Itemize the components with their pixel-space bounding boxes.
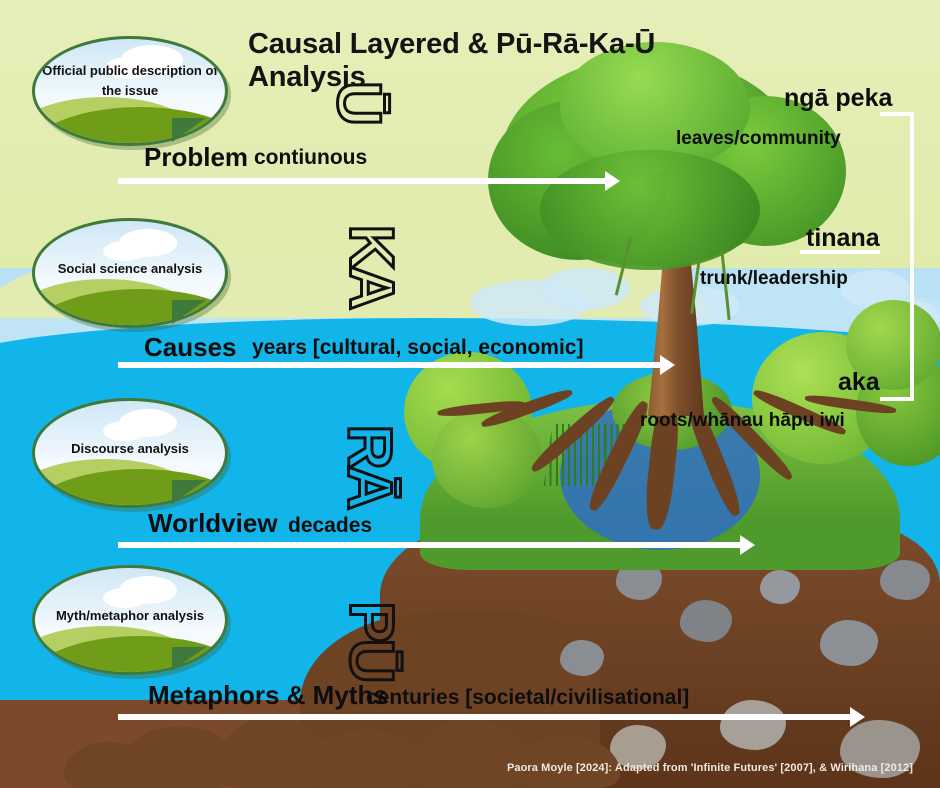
cloud-icon xyxy=(103,588,147,608)
layer-timescale-causes: years [cultural, social, economic] xyxy=(252,336,583,360)
timeline-arrowhead-causes xyxy=(660,355,675,375)
layer-timescale-problem: contiunous xyxy=(254,146,367,170)
cloud-icon xyxy=(103,241,147,261)
bracket-peka xyxy=(880,112,914,256)
bracket-aka xyxy=(880,252,914,401)
rock-shape xyxy=(880,560,930,600)
bubble-tail xyxy=(172,118,206,142)
rock-shape xyxy=(560,640,604,676)
timeline-arrow-causes xyxy=(118,362,663,368)
cloud-icon xyxy=(103,421,147,441)
causes-bubble-label: Social science analysis xyxy=(41,259,219,279)
tree-label-maori-tinana: tinana xyxy=(806,224,880,253)
rock-shape xyxy=(820,620,878,666)
tree-label-english-trunk: trunk/leadership xyxy=(700,268,848,290)
rock-shape xyxy=(760,570,800,604)
tree-label-english-roots: roots/whānau hāpu iwi xyxy=(640,410,845,432)
timeline-arrow-problem xyxy=(118,178,608,184)
timeline-arrowhead-problem xyxy=(605,171,620,191)
tree-label-english-leaves: leaves/community xyxy=(676,128,841,150)
vertical-letter-pu: PŪ xyxy=(336,601,407,679)
timeline-arrow-worldview xyxy=(118,542,743,548)
timeline-arrow-myths xyxy=(118,714,853,720)
rock-shape xyxy=(720,700,786,750)
vertical-letter-ra: RĀ xyxy=(333,425,404,507)
tree-canopy-bottom xyxy=(540,150,760,270)
vertical-letter-ka: KA xyxy=(335,225,406,307)
credit-line: Paora Moyle [2024]: Adapted from 'Infini… xyxy=(500,762,920,774)
layer-label-worldview: Worldview xyxy=(148,508,278,539)
problem-bubble-label: Official public description of the issue xyxy=(41,61,219,101)
bubble-tail xyxy=(172,480,206,504)
layer-label-myths: Metaphors & Myths xyxy=(148,680,388,711)
vertical-letter-u: Ū xyxy=(323,81,394,122)
bubble-tail xyxy=(172,300,206,324)
rock-shape xyxy=(680,600,732,642)
bracket-tick-tinana xyxy=(800,250,880,254)
timeline-arrowhead-myths xyxy=(850,707,865,727)
timeline-arrowhead-worldview xyxy=(740,535,755,555)
layer-label-causes: Causes xyxy=(144,332,237,363)
layer-label-problem: Problem xyxy=(144,142,248,173)
layer-timescale-worldview: decades xyxy=(288,514,372,538)
layer-timescale-myths: centuries [societal/civilisational] xyxy=(366,686,689,710)
infographic-canvas: Causal Layered & Pū-Rā-Ka-Ū Analysis Off… xyxy=(0,0,940,788)
worldview-bubble-label: Discourse analysis xyxy=(41,439,219,459)
bubble-tail xyxy=(172,647,206,671)
myths-bubble-label: Myth/metaphor analysis xyxy=(41,606,219,626)
tree-label-maori-aka: aka xyxy=(838,368,880,397)
tree-label-maori-nga-peka: ngā peka xyxy=(784,84,892,113)
